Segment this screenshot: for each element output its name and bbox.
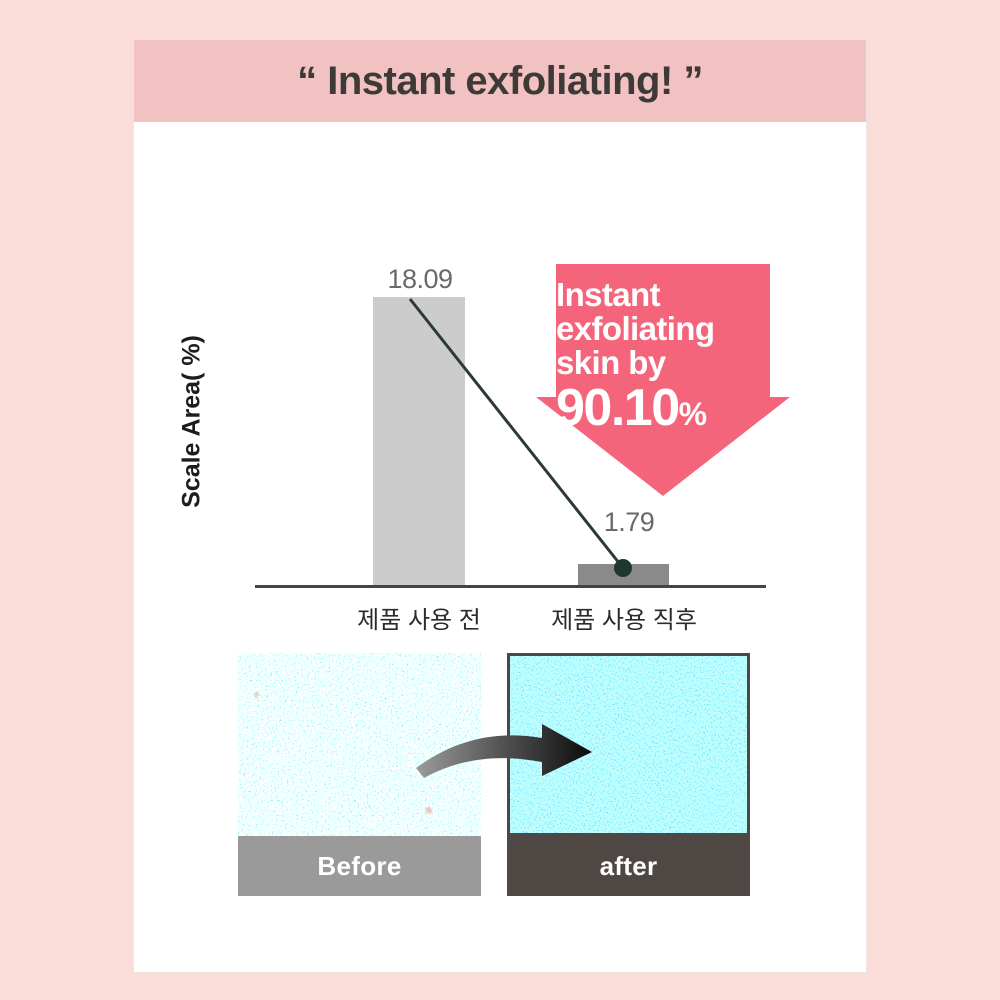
callout-line-2: exfoliating	[556, 312, 772, 346]
skin-scan-before-image	[238, 653, 481, 836]
bar-value-after: 1.79	[589, 507, 669, 538]
x-tick-label-before: 제품 사용 전	[334, 600, 504, 635]
photo-panel-after: after	[507, 653, 750, 896]
callout-arrow: Instant exfoliating skin by 90.10%	[536, 264, 790, 496]
content-card: “ Instant exfoliating! ” Scale Area( %) …	[134, 40, 866, 972]
bar-value-before: 18.09	[374, 264, 466, 295]
x-axis-line	[255, 585, 766, 588]
page-root: “ Instant exfoliating! ” Scale Area( %) …	[0, 0, 1000, 1000]
callout-value: 90.10%	[556, 382, 772, 436]
bar-chart: Scale Area( %) 18.09 1.79 제품 사용 전 제품 사용 …	[134, 122, 866, 622]
callout-value-number: 90.10	[556, 379, 679, 437]
x-tick-label-after: 제품 사용 직후	[534, 600, 714, 635]
photo-comparison: Before after	[134, 640, 866, 900]
callout-value-unit: %	[679, 396, 707, 432]
photo-caption-before: Before	[238, 836, 481, 896]
skin-scan-after-image	[507, 653, 750, 836]
page-title: “ Instant exfoliating! ”	[297, 59, 703, 104]
bar-after	[578, 564, 669, 585]
bar-before	[373, 297, 465, 585]
photo-panel-before: Before	[238, 653, 481, 896]
photo-caption-after: after	[507, 836, 750, 896]
callout-line-1: Instant	[556, 278, 772, 312]
header-band: “ Instant exfoliating! ”	[134, 40, 866, 122]
callout-text: Instant exfoliating skin by 90.10%	[556, 278, 772, 436]
callout-line-3: skin by	[556, 346, 772, 380]
y-axis-label: Scale Area( %)	[178, 302, 207, 542]
